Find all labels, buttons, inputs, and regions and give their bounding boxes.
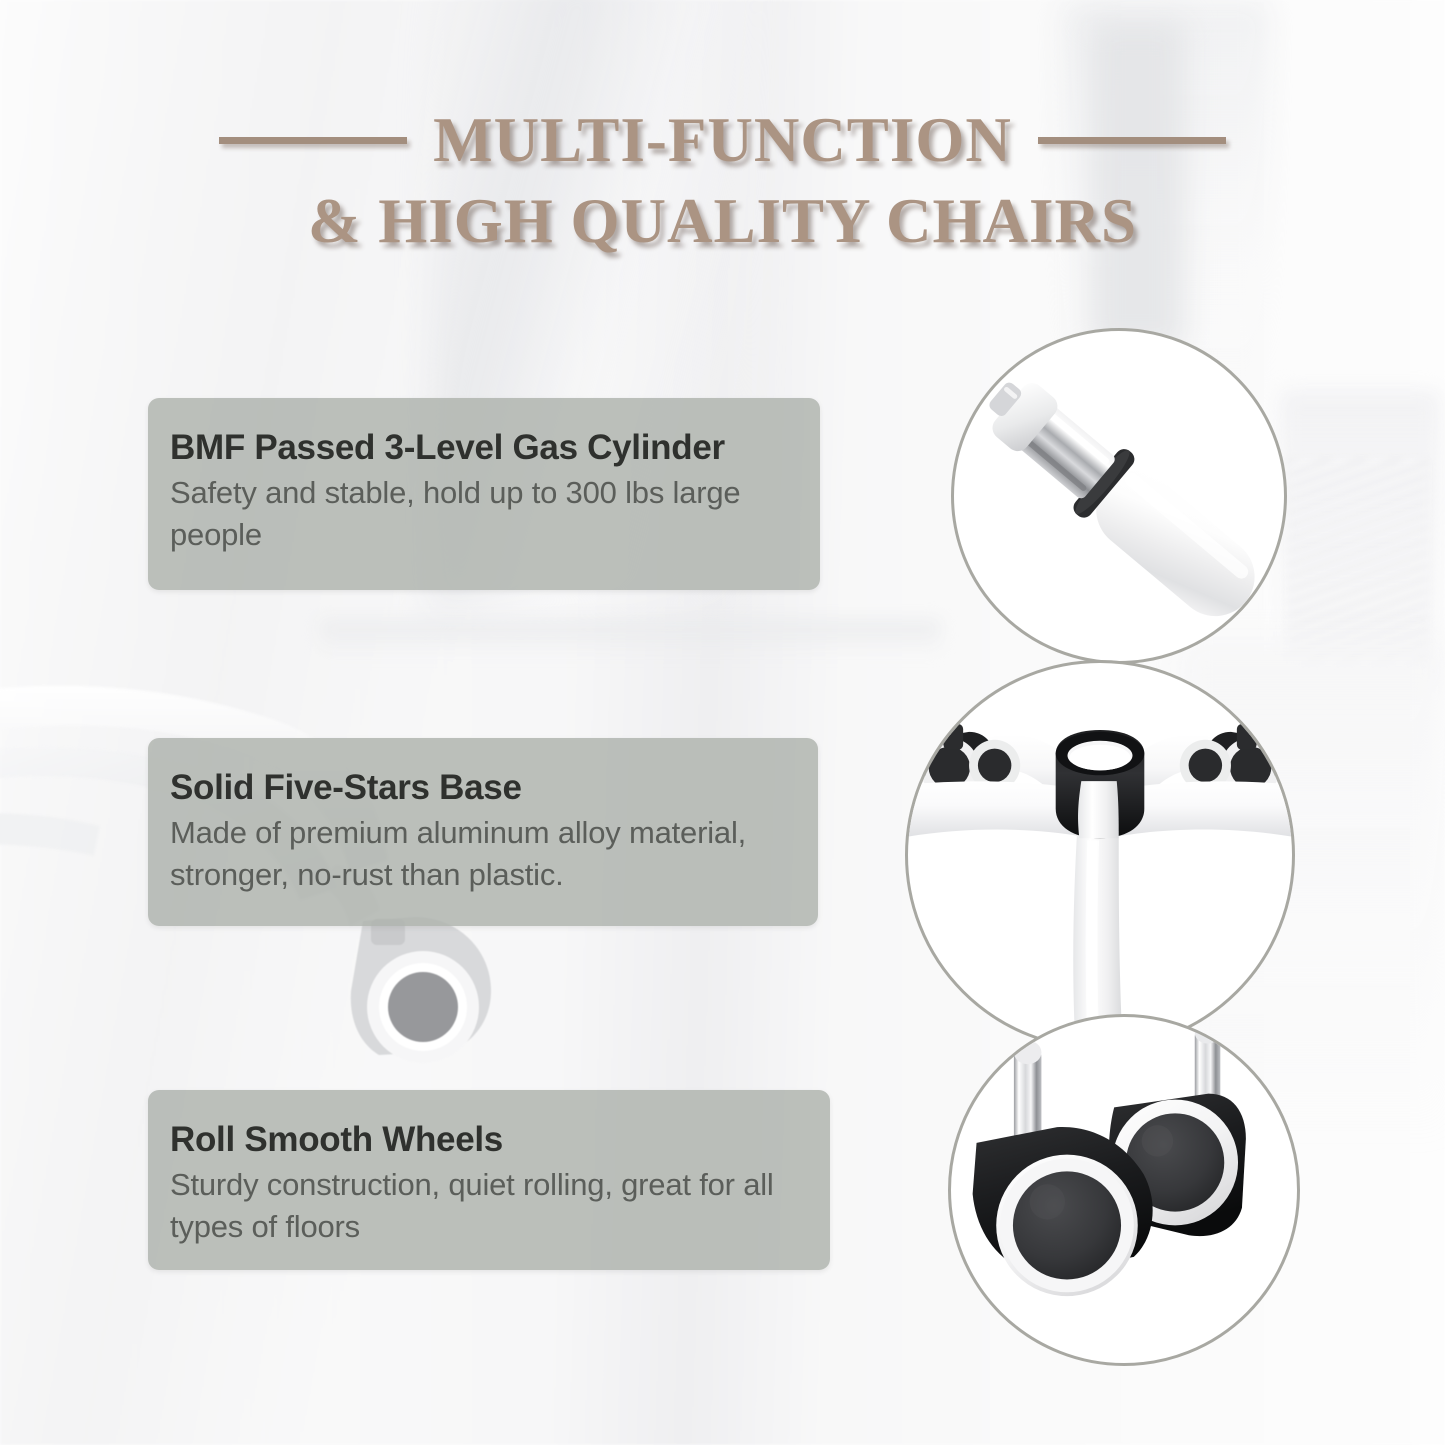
feature-card-wheels: Roll Smooth Wheels Sturdy construction, … bbox=[148, 1090, 830, 1270]
feature-description-gas-cylinder: Safety and stable, hold up to 300 lbs la… bbox=[170, 472, 790, 556]
background-panel bbox=[1090, 20, 1185, 350]
feature-description-five-star-base: Made of premium aluminum alloy material,… bbox=[170, 812, 788, 896]
feature-title-wheels: Roll Smooth Wheels bbox=[170, 1120, 800, 1160]
background-basket-weave bbox=[1288, 460, 1428, 660]
feature-title-gas-cylinder: BMF Passed 3-Level Gas Cylinder bbox=[170, 428, 790, 468]
feature-description-wheels: Sturdy construction, quiet rolling, grea… bbox=[170, 1164, 800, 1248]
product-image-wheels bbox=[948, 1014, 1300, 1366]
feature-card-gas-cylinder: BMF Passed 3-Level Gas Cylinder Safety a… bbox=[148, 398, 820, 590]
product-image-gas-cylinder bbox=[951, 328, 1287, 664]
background-floor-line bbox=[320, 620, 940, 654]
feature-title-five-star-base: Solid Five-Stars Base bbox=[170, 768, 788, 808]
product-image-five-star-base bbox=[905, 660, 1295, 1050]
background-caster-wheel bbox=[345, 915, 515, 1075]
infographic-canvas: MULTI-FUNCTION & HIGH QUALITY CHAIRS bbox=[0, 0, 1445, 1445]
feature-card-five-star-base: Solid Five-Stars Base Made of premium al… bbox=[148, 738, 818, 926]
